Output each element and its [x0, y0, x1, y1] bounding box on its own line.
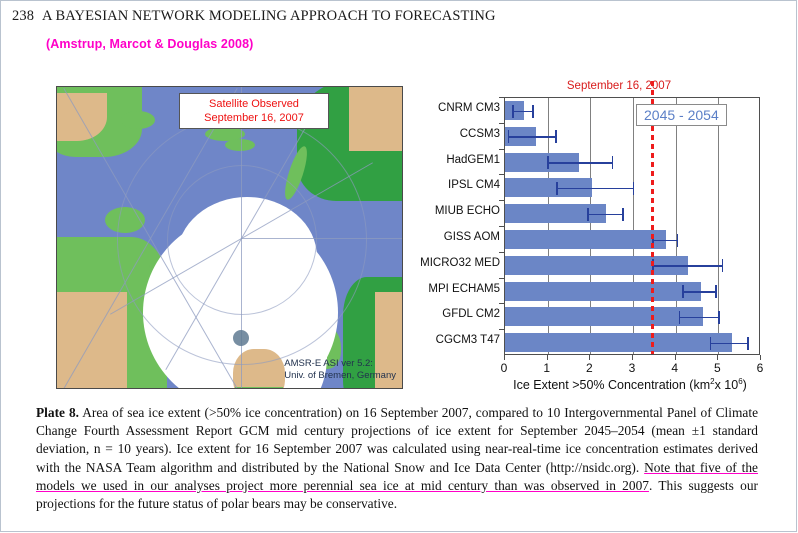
chart-bar-row [505, 175, 761, 201]
chart-y-tick [499, 329, 504, 330]
chart-reference-line-label: September 16, 2007 [504, 80, 734, 92]
chart-error-cap [612, 156, 614, 169]
chart-y-tick [499, 200, 504, 201]
citation-annotation: (Amstrup, Marcot & Douglas 2008) [46, 37, 253, 51]
chart-y-label: GISS AOM [444, 231, 500, 243]
figure-caption: Plate 8. Area of sea ice extent (>50% ic… [36, 404, 758, 513]
satellite-map-panel: Satellite Observed September 16, 2007 AM… [56, 86, 403, 389]
chart-error-cap [512, 105, 514, 118]
chart-error-bar [508, 136, 557, 138]
chart-error-cap [547, 156, 549, 169]
chart-x-tick [632, 355, 633, 360]
chart-x-tick [547, 355, 548, 360]
chart-error-bar [652, 265, 722, 267]
chart-error-cap [715, 285, 717, 298]
chart-error-cap [622, 208, 624, 221]
chart-error-cap [718, 311, 720, 324]
chart-legend-label: 2045 - 2054 [644, 107, 719, 123]
chart-y-label: MICRO32 MED [420, 257, 500, 269]
graticule-parallel-2 [117, 115, 367, 365]
chart-error-bar [556, 188, 634, 190]
map-attribution-line1: AMSR-E ASI ver 5.2: [284, 358, 396, 370]
chart-x-tick-label: 6 [748, 361, 772, 375]
running-head: 238A BAYESIAN NETWORK MODELING APPROACH … [12, 8, 782, 25]
chart-x-tick [760, 355, 761, 360]
chart-y-label: CNRM CM3 [438, 102, 500, 114]
chart-error-bar [587, 214, 623, 216]
chart-x-tick-label: 0 [492, 361, 516, 375]
page-number: 238 [12, 8, 42, 25]
chart-y-tick [499, 174, 504, 175]
chart-y-label: MPI ECHAM5 [428, 283, 500, 295]
xaxis-title-part3: ) [743, 378, 747, 392]
chart-x-tick-label: 1 [535, 361, 559, 375]
chart-error-bar [547, 162, 612, 164]
chart-x-tick [589, 355, 590, 360]
map-title-box: Satellite Observed September 16, 2007 [179, 93, 329, 129]
running-title: A BAYESIAN NETWORK MODELING APPROACH TO … [42, 8, 496, 24]
chart-x-tick [675, 355, 676, 360]
chart-bar [505, 333, 732, 352]
chart-x-tick-label: 2 [577, 361, 601, 375]
chart-error-bar [512, 111, 533, 113]
chart-legend: 2045 - 2054 [636, 104, 727, 126]
chart-bar-row [505, 201, 761, 227]
chart-x-tick [504, 355, 505, 360]
land-island-d [121, 111, 155, 129]
map-attribution: AMSR-E ASI ver 5.2: Univ. of Bremen, Ger… [284, 358, 396, 382]
chart-x-tick-label: 3 [620, 361, 644, 375]
map-attribution-line2: Univ. of Bremen, Germany [284, 370, 396, 382]
chart-bar-row [505, 279, 761, 305]
chart-error-cap [555, 130, 557, 143]
chart-error-cap [677, 234, 679, 247]
chart-x-tick [717, 355, 718, 360]
chart-y-label: CCSM3 [460, 128, 500, 140]
chart-y-label: GFDL CM2 [442, 308, 500, 320]
chart-error-cap [722, 259, 724, 272]
chart-y-tick [499, 226, 504, 227]
ice-extent-bar-chart: September 16, 2007 CNRM CM3CCSM3HadGEM1I… [418, 80, 790, 392]
chart-error-cap [679, 311, 681, 324]
chart-y-label: IPSL CM4 [448, 179, 500, 191]
chart-y-tick [499, 123, 504, 124]
chart-error-cap [508, 130, 510, 143]
chart-error-bar [652, 240, 678, 242]
chart-error-bar [679, 317, 720, 319]
map-title-line1: Satellite Observed [182, 97, 326, 111]
chart-x-axis-title: Ice Extent >50% Concentration (km2x 106) [480, 377, 780, 392]
chart-bar-row [505, 304, 761, 330]
chart-error-cap [556, 182, 558, 195]
north-pole-marker [233, 330, 249, 346]
chart-bar-row [505, 150, 761, 176]
chart-error-cap [587, 208, 589, 221]
chart-bar-row [505, 124, 761, 150]
chart-y-tick [499, 252, 504, 253]
chart-error-bar [682, 291, 716, 293]
xaxis-title-part1: Ice Extent >50% Concentration (km [513, 378, 710, 392]
chart-x-tick-label: 4 [663, 361, 687, 375]
chart-plot-area [504, 97, 760, 355]
chart-x-tick-label: 5 [705, 361, 729, 375]
chart-bar-row [505, 253, 761, 279]
chart-y-tick [499, 278, 504, 279]
chart-y-tick [499, 303, 504, 304]
chart-error-cap [710, 337, 712, 350]
map-title-line2: September 16, 2007 [182, 111, 326, 125]
chart-y-label: CGCM3 T47 [436, 334, 500, 346]
caption-plate-label: Plate 8. [36, 405, 79, 420]
chart-bar-row [505, 227, 761, 253]
chart-y-label: HadGEM1 [446, 154, 500, 166]
chart-error-cap [633, 182, 635, 195]
chart-error-cap [747, 337, 749, 350]
chart-error-bar [710, 343, 748, 345]
chart-bar [505, 230, 666, 249]
land-eurasia-interior [349, 86, 403, 151]
land-greenland-south-edge [235, 387, 283, 389]
chart-bar [505, 282, 701, 301]
chart-y-tick [499, 97, 504, 98]
xaxis-title-part2: x 10 [715, 378, 739, 392]
chart-y-tick [499, 149, 504, 150]
chart-y-label: MIUB ECHO [435, 205, 500, 217]
chart-bar-row [505, 330, 761, 356]
chart-bar [505, 307, 703, 326]
chart-error-cap [532, 105, 534, 118]
chart-error-cap [682, 285, 684, 298]
